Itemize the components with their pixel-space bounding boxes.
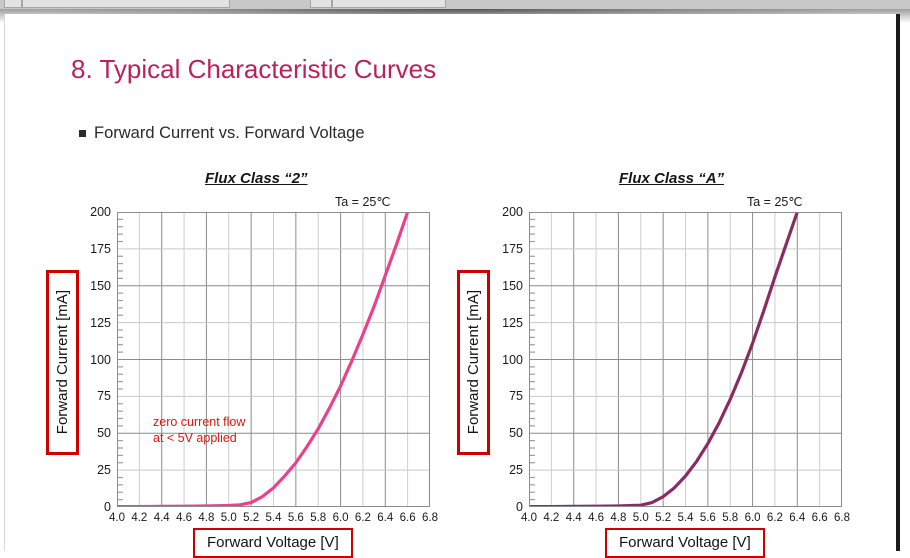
x-tick-label: 4.0 [109, 512, 125, 524]
chart-flux-class-2: Flux Class “2” Ta = 25℃ zero current flo… [45, 164, 445, 554]
grid-lines [529, 212, 842, 507]
x-tick-label: 5.0 [221, 512, 237, 524]
x-axis-label-box: Forward Voltage [V] [605, 528, 765, 558]
y-tick-label: 175 [502, 242, 523, 256]
slide-page: 8. Typical Characteristic Curves Forward… [4, 14, 900, 551]
x-tick-label: 6.4 [377, 512, 393, 524]
plot-svg [117, 212, 430, 507]
x-tick-label: 5.6 [700, 512, 716, 524]
y-tick-label: 50 [509, 426, 523, 440]
square-bullet-icon [79, 130, 86, 137]
y-tick-label: 50 [97, 426, 111, 440]
y-axis-label-box: Forward Current [mA] [46, 270, 79, 455]
toolbar-button-1[interactable] [4, 0, 22, 8]
x-tick-label: 5.0 [633, 512, 649, 524]
bullet-row: Forward Current vs. Forward Voltage [79, 124, 365, 143]
x-tick-label: 4.4 [566, 512, 582, 524]
y-tick-label: 100 [502, 353, 523, 367]
x-tick-label: 5.4 [266, 512, 282, 524]
y-tick-label: 25 [509, 463, 523, 477]
x-tick-label: 5.6 [288, 512, 304, 524]
chart-heading: Flux Class “A” [619, 170, 724, 187]
x-tick-label: 5.2 [655, 512, 671, 524]
y-tick-label: 125 [90, 316, 111, 330]
y-tick-label: 125 [502, 316, 523, 330]
x-tick-label: 5.8 [310, 512, 326, 524]
y-tick-label: 200 [90, 205, 111, 219]
annotation-line-2: at < 5V applied [153, 430, 245, 446]
y-tick-label: 175 [90, 242, 111, 256]
x-tick-label: 6.4 [789, 512, 805, 524]
x-tick-label: 4.4 [154, 512, 170, 524]
x-tick-label: 6.8 [834, 512, 850, 524]
x-axis-label-box: Forward Voltage [V] [193, 528, 353, 558]
chart-flux-class-a: Flux Class “A” Ta = 25℃ 0255075100125150… [455, 164, 855, 554]
bullet-text: Forward Current vs. Forward Voltage [94, 124, 365, 143]
x-tick-label: 4.6 [176, 512, 192, 524]
x-tick-label: 6.2 [767, 512, 783, 524]
x-tick-label: 5.8 [722, 512, 738, 524]
toolbar-button-4[interactable] [332, 0, 446, 8]
plot-area: 02550751001251501752004.04.24.44.64.85.0… [529, 212, 842, 507]
y-tick-label: 75 [509, 389, 523, 403]
plot-area: zero current flow at < 5V applied 025507… [117, 212, 430, 507]
toolbar-button-3[interactable] [310, 0, 332, 8]
x-tick-label: 6.0 [745, 512, 761, 524]
plot-svg [529, 212, 842, 507]
x-tick-label: 4.0 [521, 512, 537, 524]
y-axis-label-box: Forward Current [mA] [457, 270, 490, 455]
x-tick-label: 4.2 [543, 512, 559, 524]
x-tick-label: 4.8 [610, 512, 626, 524]
x-tick-label: 6.6 [400, 512, 416, 524]
page-title: 8. Typical Characteristic Curves [71, 54, 436, 85]
toolbar-button-2[interactable] [22, 0, 230, 8]
chart-temperature-note: Ta = 25℃ [335, 194, 390, 209]
x-tick-label: 6.8 [422, 512, 438, 524]
y-tick-label: 150 [90, 279, 111, 293]
x-tick-label: 6.0 [333, 512, 349, 524]
y-tick-label: 200 [502, 205, 523, 219]
y-tick-label: 150 [502, 279, 523, 293]
annotation-zero-current: zero current flow at < 5V applied [153, 414, 245, 446]
x-tick-label: 5.4 [678, 512, 694, 524]
annotation-line-1: zero current flow [153, 414, 245, 430]
x-tick-label: 6.6 [812, 512, 828, 524]
grid-lines [117, 212, 430, 507]
y-axis-label: Forward Current [mA] [465, 290, 482, 434]
y-tick-label: 75 [97, 389, 111, 403]
y-tick-label: 100 [90, 353, 111, 367]
chart-heading: Flux Class “2” [205, 170, 308, 187]
x-tick-label: 6.2 [355, 512, 371, 524]
x-tick-label: 4.8 [198, 512, 214, 524]
x-tick-label: 4.2 [131, 512, 147, 524]
x-tick-label: 4.6 [588, 512, 604, 524]
y-axis-label: Forward Current [mA] [54, 290, 71, 434]
chart-temperature-note: Ta = 25℃ [747, 194, 802, 209]
x-tick-label: 5.2 [243, 512, 259, 524]
y-tick-label: 25 [97, 463, 111, 477]
